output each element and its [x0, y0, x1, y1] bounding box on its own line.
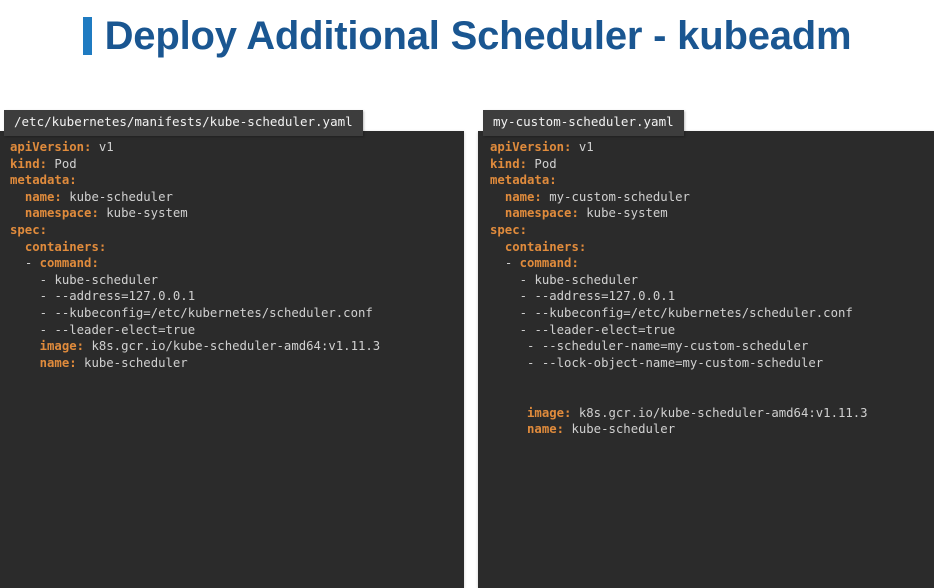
code-line: kind: Pod — [10, 156, 464, 173]
yaml-list-dash: - — [40, 289, 55, 303]
yaml-key: name: — [527, 422, 564, 436]
yaml-key: image: — [40, 339, 84, 353]
yaml-list-dash: - — [520, 273, 535, 287]
code-line: metadata: — [490, 172, 934, 189]
yaml-list-dash: - — [520, 289, 535, 303]
code-line: - --address=127.0.0.1 — [10, 288, 464, 305]
yaml-list-dash: - — [40, 323, 55, 337]
yaml-value: --leader-elect=true — [54, 323, 195, 337]
code-block-body[interactable]: apiVersion: v1kind: Podmetadata: name: k… — [0, 131, 464, 588]
code-line: containers: — [10, 239, 464, 256]
yaml-key: containers: — [25, 240, 106, 254]
code-line: namespace: kube-system — [10, 205, 464, 222]
yaml-key: apiVersion: — [10, 140, 91, 154]
yaml-value: --leader-elect=true — [534, 323, 675, 337]
code-line: apiVersion: v1 — [490, 139, 934, 156]
yaml-value: --address=127.0.0.1 — [54, 289, 195, 303]
yaml-value: Pod — [47, 157, 77, 171]
yaml-list-dash: - — [527, 356, 542, 370]
yaml-value: kube-scheduler — [534, 273, 638, 287]
yaml-key: name: — [505, 190, 542, 204]
yaml-key: name: — [40, 356, 77, 370]
yaml-key: namespace: — [25, 206, 99, 220]
code-line-blank — [490, 371, 934, 388]
code-line: - --lock-object-name=my-custom-scheduler — [490, 355, 934, 372]
yaml-value: v1 — [571, 140, 593, 154]
yaml-key: namespace: — [505, 206, 579, 220]
yaml-value: --address=127.0.0.1 — [534, 289, 675, 303]
yaml-value: Pod — [527, 157, 557, 171]
yaml-value: kube-system — [99, 206, 188, 220]
code-line: namespace: kube-system — [490, 205, 934, 222]
code-block-filename-tab: /etc/kubernetes/manifests/kube-scheduler… — [4, 110, 363, 136]
yaml-key: apiVersion: — [490, 140, 571, 154]
code-line: containers: — [490, 239, 934, 256]
yaml-value: --lock-object-name=my-custom-scheduler — [542, 356, 823, 370]
code-line: name: my-custom-scheduler — [490, 189, 934, 206]
yaml-key: metadata: — [490, 173, 557, 187]
code-line: metadata: — [10, 172, 464, 189]
yaml-key: name: — [25, 190, 62, 204]
code-line: - --leader-elect=true — [10, 322, 464, 339]
code-line: - kube-scheduler — [490, 272, 934, 289]
code-line: spec: — [10, 222, 464, 239]
yaml-list-dash: - — [40, 306, 55, 320]
yaml-key: command: — [40, 256, 99, 270]
yaml-value: k8s.gcr.io/kube-scheduler-amd64:v1.11.3 — [84, 339, 380, 353]
code-line: image: k8s.gcr.io/kube-scheduler-amd64:v… — [10, 338, 464, 355]
yaml-value: kube-scheduler — [62, 190, 173, 204]
yaml-value: --scheduler-name=my-custom-scheduler — [542, 339, 809, 353]
code-line: - --kubeconfig=/etc/kubernetes/scheduler… — [10, 305, 464, 322]
code-line: apiVersion: v1 — [10, 139, 464, 156]
code-line: - --kubeconfig=/etc/kubernetes/scheduler… — [490, 305, 934, 322]
yaml-list-dash: - — [520, 323, 535, 337]
yaml-value: kube-scheduler — [564, 422, 675, 436]
code-block-kube-scheduler-manifest: /etc/kubernetes/manifests/kube-scheduler… — [0, 110, 470, 588]
code-line: name: kube-scheduler — [10, 355, 464, 372]
page-title-text: Deploy Additional Scheduler - kubeadm — [105, 16, 852, 56]
yaml-key: image: — [527, 406, 571, 420]
code-line: kind: Pod — [490, 156, 934, 173]
code-line: image: k8s.gcr.io/kube-scheduler-amd64:v… — [490, 405, 934, 422]
code-line: - --address=127.0.0.1 — [490, 288, 934, 305]
code-line: - --scheduler-name=my-custom-scheduler — [490, 338, 934, 355]
yaml-list-dash: - — [527, 339, 542, 353]
code-line: name: kube-scheduler — [10, 189, 464, 206]
code-block-filename-tab: my-custom-scheduler.yaml — [483, 110, 684, 136]
code-lines: apiVersion: v1kind: Podmetadata: name: k… — [0, 131, 464, 371]
yaml-value: --kubeconfig=/etc/kubernetes/scheduler.c… — [534, 306, 852, 320]
code-line: spec: — [490, 222, 934, 239]
yaml-key: kind: — [10, 157, 47, 171]
yaml-value: my-custom-scheduler — [542, 190, 690, 204]
code-block-body[interactable]: apiVersion: v1kind: Podmetadata: name: m… — [478, 131, 934, 588]
yaml-key: kind: — [490, 157, 527, 171]
yaml-key: containers: — [505, 240, 586, 254]
yaml-key: spec: — [490, 223, 527, 237]
yaml-value: kube-scheduler — [54, 273, 158, 287]
yaml-list-dash: - — [520, 306, 535, 320]
yaml-key: spec: — [10, 223, 47, 237]
title-accent-bar — [83, 17, 92, 55]
yaml-key: command: — [520, 256, 579, 270]
yaml-value: --kubeconfig=/etc/kubernetes/scheduler.c… — [54, 306, 372, 320]
code-block-my-custom-scheduler-manifest: my-custom-scheduler.yaml apiVersion: v1k… — [478, 110, 934, 588]
code-line: - --leader-elect=true — [490, 322, 934, 339]
yaml-key: metadata: — [10, 173, 77, 187]
yaml-list-dash: - — [25, 256, 40, 270]
code-line: - command: — [490, 255, 934, 272]
yaml-value: kube-system — [579, 206, 668, 220]
yaml-value: kube-scheduler — [77, 356, 188, 370]
yaml-list-dash: - — [505, 256, 520, 270]
page-title: Deploy Additional Scheduler - kubeadm — [0, 6, 934, 66]
code-lines: apiVersion: v1kind: Podmetadata: name: m… — [478, 131, 934, 438]
code-line: - command: — [10, 255, 464, 272]
code-line: name: kube-scheduler — [490, 421, 934, 438]
code-line-blank — [490, 388, 934, 405]
yaml-list-dash: - — [40, 273, 55, 287]
code-line: - kube-scheduler — [10, 272, 464, 289]
yaml-value: k8s.gcr.io/kube-scheduler-amd64:v1.11.3 — [571, 406, 867, 420]
yaml-value: v1 — [91, 140, 113, 154]
